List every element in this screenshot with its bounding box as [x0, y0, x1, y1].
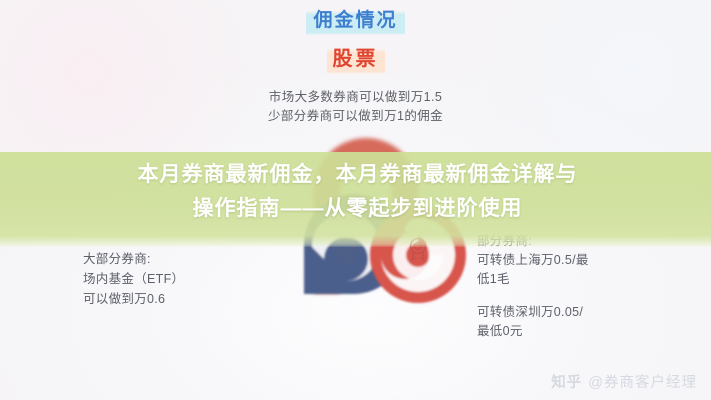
heading-stock: 股票	[327, 46, 385, 74]
right-block-g1-line-1: 可转债上海万0.5/最	[477, 251, 657, 270]
right-block-g1-line-2: 低1毛	[477, 270, 657, 289]
left-info-block: 大部分券商: 场内基金（ETF） 可以做到万0.6	[83, 249, 184, 309]
watermark: 知乎 @券商客户经理	[551, 371, 697, 392]
screenshot-canvas: 佣金情况 股票 市场大多数券商可以做到万1.5 少部分券商可以做到万1的佣金 大…	[0, 0, 711, 400]
right-info-block: 部分券商: 可转债上海万0.5/最 低1毛 可转债深圳万0.05/ 最低0元	[477, 232, 657, 341]
left-block-line-2: 场内基金（ETF）	[83, 269, 184, 289]
right-block-g2-line-2: 最低0元	[477, 322, 657, 341]
overlay-title-line-1: 本月券商最新佣金，本月券商最新佣金详解与	[0, 158, 711, 192]
center-description: 市场大多数券商可以做到万1.5 少部分券商可以做到万1的佣金	[0, 88, 711, 126]
watermark-logo: 知乎	[551, 371, 582, 392]
overlay-title-line-2: 操作指南——从零起步到进阶使用	[0, 192, 711, 226]
right-block-spacer	[477, 289, 657, 303]
illustration-headings: 佣金情况 股票	[0, 8, 711, 74]
watermark-handle: @券商客户经理	[588, 371, 697, 392]
heading-commission: 佣金情况	[306, 8, 404, 35]
right-block-g2-line-1: 可转债深圳万0.05/	[477, 303, 657, 322]
left-block-line-3: 可以做到万0.6	[83, 289, 184, 309]
left-block-line-1: 大部分券商:	[83, 249, 184, 269]
center-description-line-2: 少部分券商可以做到万1的佣金	[0, 107, 711, 126]
center-description-line-1: 市场大多数券商可以做到万1.5	[0, 88, 711, 107]
overlay-title: 本月券商最新佣金，本月券商最新佣金详解与 操作指南——从零起步到进阶使用	[0, 158, 711, 226]
